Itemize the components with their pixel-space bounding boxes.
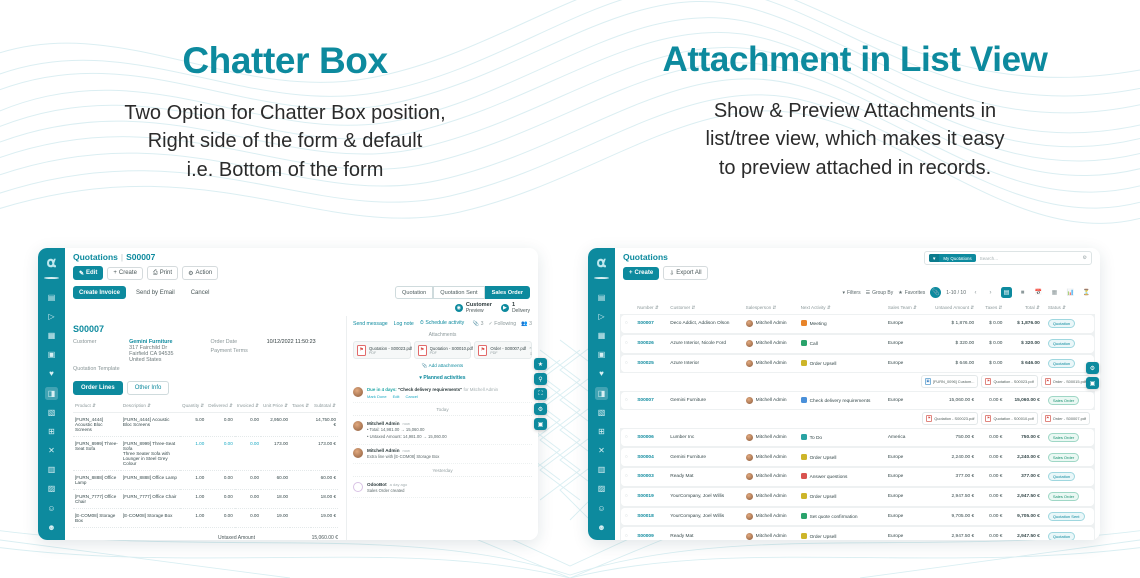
- activity-type-icon: [801, 473, 807, 479]
- follow-button[interactable]: ✓ Following: [488, 321, 516, 327]
- col-header-quantity[interactable]: Quantity ⇵: [180, 400, 206, 413]
- col-header-salesperson[interactable]: Salesperson ⇵: [742, 303, 797, 313]
- megaphone-icon[interactable]: ▷: [595, 310, 608, 323]
- quotations-list-table: Number ⇵Customer ⇵Salesperson ⇵Next Acti…: [621, 301, 1094, 540]
- inbox-icon[interactable]: ▧: [595, 406, 608, 419]
- cell-salesperson: Mitchell Admin: [742, 355, 797, 373]
- shuffle-icon[interactable]: ✕: [45, 445, 58, 458]
- col-header-taxes[interactable]: Taxes ⇵: [978, 303, 1006, 313]
- row-select-checkbox[interactable]: ○: [621, 488, 633, 506]
- attachment-chip-name: Quotation - S00023.pdf: [934, 416, 974, 421]
- cell-product: [FURN_8999] Three-Seat Sofa: [73, 437, 121, 471]
- view-switch-kanban[interactable]: ■: [1017, 287, 1028, 298]
- megaphone-icon[interactable]: ▷: [45, 310, 58, 323]
- cell-number[interactable]: S00004: [633, 448, 666, 466]
- grid-icon[interactable]: ⊞: [595, 425, 608, 438]
- app-sidebar-right: ⍺ ▤▷▦▣♥◨▧⊞✕▥▨☺☻⚙⊕: [588, 248, 615, 540]
- create-button[interactable]: +Create: [107, 267, 143, 280]
- chatter-message: OdooBota day agoSales Order created: [353, 479, 532, 498]
- view-switch-list[interactable]: ▤: [1001, 287, 1012, 298]
- cell-sales-team: Europe: [884, 488, 926, 506]
- odoo-logo-icon: ⍺: [592, 253, 611, 271]
- planned-activities-title[interactable]: ▾ Planned activities: [353, 375, 532, 381]
- breadcrumb-separator: |: [121, 252, 123, 262]
- save-icon[interactable]: ▣: [1086, 377, 1099, 389]
- heading-title-attachment-list-view: Attachment in List View: [570, 42, 1140, 79]
- cell-sales-team: Europe: [884, 468, 926, 486]
- totals-block: Untaxed Amount15,060.00 €Taxes0.00 €Tota…: [218, 533, 338, 540]
- plus-icon: +: [113, 270, 117, 276]
- heading-subtitle-attachment-list-view: Show & Preview Attachments in list/tree …: [570, 97, 1140, 182]
- cell-salesperson: Mitchell Admin: [742, 429, 797, 447]
- day-separator-yesterday: Yesterday: [353, 468, 532, 477]
- table-row[interactable]: ○S00025Azure InteriorMitchell AdminOrder…: [621, 355, 1094, 373]
- col-header-unit-price[interactable]: Unit Price ⇵: [261, 400, 290, 413]
- add-attachments-button[interactable]: 📎 Add attachments: [353, 363, 532, 369]
- settings-icon[interactable]: ⚙: [1086, 362, 1099, 374]
- tab-order-lines[interactable]: Order Lines: [73, 381, 123, 395]
- cell-invoiced: 0.00: [235, 437, 261, 471]
- attachment-name: Quotation - S00010.pdf: [430, 346, 473, 351]
- col-header-delivered[interactable]: Delivered ⇵: [206, 400, 235, 413]
- star-icon[interactable]: ★: [534, 358, 547, 370]
- order-line-row[interactable]: [FURN_8888] Office Lamp[FURN_8888] Offic…: [73, 471, 338, 490]
- status-badge: Sales Order: [1048, 492, 1079, 501]
- attachment-chip-name: Order - S00015.pdf: [1053, 379, 1086, 384]
- salesperson-name: Mitchell Admin: [756, 361, 787, 366]
- col-header-description[interactable]: Description ⇵: [121, 400, 180, 413]
- col-header-next-activity[interactable]: Next Activity ⇵: [797, 303, 884, 313]
- smart-button-label: Preview: [466, 308, 484, 314]
- search-facet-my-quotations[interactable]: ▼ My Quotations: [929, 254, 976, 262]
- cell-taxes: [290, 509, 311, 528]
- activity-buttons: Mark Done Edit Cancel: [367, 394, 498, 399]
- inbox-icon[interactable]: ▧: [45, 406, 58, 419]
- total-untaxed-amount: Untaxed Amount15,060.00 €: [218, 533, 338, 540]
- avatar: [746, 533, 753, 540]
- cell-number[interactable]: S00006: [633, 429, 666, 447]
- cell-next-activity: Set quote confirmation: [797, 508, 884, 526]
- col-header-invoiced[interactable]: Invoiced ⇵: [235, 400, 261, 413]
- filters-dropdown[interactable]: ▾ Filters: [842, 290, 860, 296]
- print-button[interactable]: ⎙Print: [147, 266, 178, 280]
- book-icon[interactable]: ▥: [595, 464, 608, 477]
- cell-salesperson: Mitchell Admin: [742, 468, 797, 486]
- activity-assignee: for Mitchell Admin: [463, 387, 498, 392]
- users-icon[interactable]: ☺: [45, 502, 58, 515]
- cell-delivered: 0.00: [206, 471, 235, 490]
- status-bar: QuotationQuotation SentSales Order: [395, 286, 530, 299]
- col-header-subtotal[interactable]: Subtotal ⇵: [311, 400, 338, 413]
- attachment-chip[interactable]: ⚑Order - S00015.pdf: [1041, 375, 1090, 387]
- activity-type-icon: [801, 360, 807, 366]
- attachment-card[interactable]: ⚑Order - S00007.pdfPDF×⇩: [474, 341, 532, 359]
- activity-cancel-button[interactable]: Cancel: [405, 394, 417, 399]
- cell-quantity: 1.00: [180, 509, 206, 528]
- order-line-row[interactable]: [FURN_7777] Office Chair[FURN_7777] Offi…: [73, 490, 338, 509]
- view-switch-calendar[interactable]: 📅: [1033, 287, 1044, 298]
- chatter-action-row: Send message Log note ⏱ Schedule activit…: [353, 320, 532, 327]
- smart-button-text: CustomerPreview: [466, 302, 492, 314]
- cell-number[interactable]: S00007: [633, 392, 666, 410]
- attachment-card[interactable]: ⚑Quotation - S00023.pdfPDF×⇩: [353, 341, 411, 359]
- attachment-type: PDF: [490, 351, 526, 355]
- row-select-checkbox[interactable]: ○: [621, 468, 633, 486]
- cell-taxes: $ 0.00: [978, 315, 1006, 333]
- cell-next-activity: Order Upsell: [797, 355, 884, 373]
- book-icon[interactable]: ▥: [45, 464, 58, 477]
- cell-unit-price: 19.00: [261, 509, 290, 528]
- tab-other-info[interactable]: Other Info: [127, 381, 170, 395]
- create-invoice-button[interactable]: Create Invoice: [73, 286, 126, 299]
- cell-number[interactable]: S00003: [633, 468, 666, 486]
- row-select-checkbox[interactable]: ○: [621, 392, 633, 410]
- table-row[interactable]: ○S00009Ready MatMitchell AdminOrder Upse…: [621, 527, 1094, 540]
- search-input[interactable]: Search...: [980, 256, 998, 261]
- odoo-logo-icon: ⍺: [42, 253, 61, 271]
- avatar: [746, 493, 753, 500]
- salesperson-name: Mitchell Admin: [756, 321, 787, 326]
- col-header-status[interactable]: Status ⇵: [1044, 303, 1094, 313]
- table-row[interactable]: ○S00003Ready MatMitchell AdminAnswer que…: [621, 468, 1094, 486]
- col-header-total[interactable]: Total ⇵: [1006, 303, 1043, 313]
- cell-product: [FURN_4444] Acoustic Bloc Screens: [73, 413, 121, 437]
- heading-block-chatter-box: Chatter Box Two Option for Chatter Box p…: [0, 0, 570, 230]
- cell-status: Sales Order: [1044, 392, 1094, 410]
- cell-taxes: 0.00 €: [978, 448, 1006, 466]
- gear-icon[interactable]: ⚙: [1083, 255, 1087, 261]
- heading-block-attachment-list-view: Attachment in List View Show & Preview A…: [570, 0, 1140, 230]
- field-payment-terms: Payment Terms: [211, 348, 339, 354]
- cell-invoiced: 0.00: [235, 509, 261, 528]
- cell-taxes: [290, 471, 311, 490]
- cancel-button[interactable]: Cancel: [185, 286, 216, 299]
- briefcase-icon[interactable]: ▤: [595, 291, 608, 304]
- field-value[interactable]: Gemini Furniture317 Fairchild DrFairfiel…: [129, 339, 173, 363]
- save-icon[interactable]: ▣: [534, 418, 547, 430]
- box-icon[interactable]: ▨: [595, 483, 608, 496]
- table-row[interactable]: ○S00019YourCompany, Joel WillisMitchell …: [621, 488, 1094, 506]
- list-body: Quotations ▼ My Quotations Search... ⚙ +…: [615, 248, 1100, 540]
- breadcrumb-root[interactable]: Quotations: [623, 252, 668, 262]
- cell-number[interactable]: S00009: [633, 527, 666, 540]
- download-icon[interactable]: ⇩: [529, 351, 532, 356]
- chatter-send-message-button[interactable]: Send message: [353, 321, 388, 327]
- cell-status: Quotation: [1044, 527, 1094, 540]
- salesperson-name: Mitchell Admin: [756, 474, 787, 479]
- status-quotation-sent[interactable]: Quotation Sent: [433, 286, 484, 299]
- cell-customer: YourCompany, Joel Willis: [666, 508, 741, 526]
- attachment-type: PDF: [369, 351, 412, 355]
- heart-icon[interactable]: ♥: [45, 368, 58, 381]
- row-select-checkbox[interactable]: ○: [621, 429, 633, 447]
- action-button[interactable]: ⚙Action: [182, 266, 218, 280]
- filter-icon: ▾: [842, 290, 845, 296]
- table-row[interactable]: ○S00007Deco Addict, Addison OlsonMitchel…: [621, 315, 1094, 333]
- col-header-product[interactable]: Product ⇵: [73, 400, 121, 413]
- cell-sales-team: Europe: [884, 315, 926, 333]
- breadcrumb-record: S00007: [126, 252, 155, 262]
- row-select-checkbox[interactable]: ○: [621, 315, 633, 333]
- cell-next-activity: To Do: [797, 429, 884, 447]
- message-body: OdooBota day agoSales Order created: [367, 482, 407, 494]
- cell-salesperson: Mitchell Admin: [742, 508, 797, 526]
- pager: 1-10 / 10 ‹ ›: [946, 287, 996, 298]
- close-icon[interactable]: ×: [529, 345, 532, 350]
- order-line-row[interactable]: [FURN_4444] Acoustic Bloc Screens[FURN_4…: [73, 413, 338, 437]
- cell-status: Sales Order: [1044, 448, 1094, 466]
- app-sidebar-left: ⍺ ▤▷▦▣♥◨▧⊞✕▥▨☺☻⚙⊕: [38, 248, 65, 540]
- activity-type-icon: [801, 397, 807, 403]
- cell-status: Sales Order: [1044, 429, 1094, 447]
- cell-number[interactable]: S00025: [633, 355, 666, 373]
- message-list-yesterday: OdooBota day agoSales Order created: [353, 479, 532, 498]
- col-header-customer[interactable]: Customer ⇵: [666, 303, 741, 313]
- document-number: S00007: [73, 324, 338, 334]
- activity-edit-button[interactable]: Edit: [393, 394, 400, 399]
- attachment-chip[interactable]: ⚑Quotation - S00023.pdf: [981, 375, 1037, 387]
- attachment-name: Quotation - S00023.pdf: [369, 346, 412, 351]
- cell-number[interactable]: S00007: [633, 315, 666, 333]
- calendar-icon[interactable]: ▦: [595, 329, 608, 342]
- wallet-icon[interactable]: ▣: [595, 349, 608, 362]
- message-text: • Untaxed Amount: 14,981.00 → 15,060.00: [367, 434, 447, 440]
- pdf-file-icon: ⚑: [926, 415, 932, 422]
- group-by-dropdown[interactable]: ☰ Group By: [866, 290, 894, 296]
- users-icon[interactable]: ☺: [595, 502, 608, 515]
- cell-description: [FURN_8999] Three-Seat SofaThree Seater …: [121, 437, 180, 471]
- attachment-name: Order - S00007.pdf: [490, 346, 526, 351]
- followers-count[interactable]: 👥 3: [521, 321, 532, 327]
- calendar-icon[interactable]: ▦: [45, 329, 58, 342]
- attachment-info: Order - S00007.pdfPDF: [490, 346, 526, 355]
- message-text: Extra line with [E-COM08] Storage Box: [367, 454, 439, 460]
- avatar: [353, 482, 363, 492]
- row-select-checkbox[interactable]: ○: [621, 508, 633, 526]
- cell-total: $ 646.00: [1006, 355, 1043, 373]
- avatar: [353, 387, 363, 397]
- pdf-file-icon: ⚑: [418, 345, 427, 356]
- chatter-panel-right: Send message Log note ⏱ Schedule activit…: [346, 316, 538, 540]
- cell-customer: Azure Interior, Nicole Ford: [666, 335, 741, 353]
- cell-description: [FURN_8888] Office Lamp: [121, 471, 180, 490]
- message-author: Mitchell Adminnow: [367, 448, 439, 453]
- smart-button-preview[interactable]: ◉CustomerPreview: [455, 302, 492, 314]
- search-bar[interactable]: ▼ My Quotations Search... ⚙: [924, 251, 1092, 265]
- status-badge: Sales Order: [1048, 433, 1079, 442]
- person-icon[interactable]: ☻: [45, 521, 58, 534]
- shuffle-icon[interactable]: ✕: [595, 445, 608, 458]
- row-select-checkbox[interactable]: ○: [621, 335, 633, 353]
- cell-customer: Ready Mat: [666, 468, 741, 486]
- attachment-chip-name: [FURN_0096] Custom...: [933, 379, 975, 384]
- cell-subtotal: 18.00 €: [311, 490, 338, 509]
- table-row[interactable]: ○S00018YourCompany, Joel WillisMitchell …: [621, 508, 1094, 526]
- status-badge: Quotation: [1048, 319, 1075, 328]
- activity-label: Check delivery requirements: [810, 399, 871, 404]
- search-icon[interactable]: ⚲: [534, 373, 547, 385]
- attachment-chip[interactable]: ⚑Quotation - S00010.pdf: [981, 412, 1037, 424]
- table-row[interactable]: ○S00004Gemini FurnitureMitchell AdminOrd…: [621, 448, 1094, 466]
- status-badge: Quotation: [1048, 359, 1075, 368]
- breadcrumb: Quotations | S00007: [65, 248, 538, 265]
- field-order-date: Order Date10/12/2022 11:50:23: [211, 339, 339, 345]
- chart-icon[interactable]: ◨: [45, 387, 58, 400]
- table-row[interactable]: ○S00006Lumber IncMitchell AdminTo DoAmer…: [621, 429, 1094, 447]
- attachment-count: 📎 3: [473, 321, 484, 327]
- search-facet-label: My Quotations: [939, 254, 975, 262]
- total-label: Untaxed Amount: [218, 535, 255, 540]
- salesperson-name: Mitchell Admin: [756, 514, 787, 519]
- table-row[interactable]: ○S00007Gemini FurnitureMitchell AdminChe…: [621, 392, 1094, 410]
- message-list-today: Mitchell Adminnow• Total: 14,981.00 → 15…: [353, 418, 532, 464]
- attachment-card[interactable]: ⚑Quotation - S00010.pdfPDF×⇩: [414, 341, 472, 359]
- workflow-buttons: Create InvoiceSend by EmailCancel: [73, 286, 215, 299]
- activity-mark-done-button[interactable]: Mark Done: [367, 394, 387, 399]
- pager-previous-button[interactable]: ‹: [970, 287, 981, 298]
- table-row[interactable]: ○S00026Azure Interior, Nicole FordMitche…: [621, 335, 1094, 353]
- cell-customer: YourCompany, Joel Willis: [666, 488, 741, 506]
- col-header-number[interactable]: Number ⇵: [633, 303, 666, 313]
- cell-delivered: 0.00: [206, 509, 235, 528]
- cell-taxes: 0.00 €: [978, 392, 1006, 410]
- field-value[interactable]: 10/12/2022 11:50:23: [267, 339, 316, 345]
- cell-customer: Azure Interior: [666, 355, 741, 373]
- heart-icon[interactable]: ♥: [595, 368, 608, 381]
- export-all-button[interactable]: ⇩Export All: [663, 266, 707, 280]
- attachment-chip[interactable]: ⚑Quotation - S00023.pdf: [922, 412, 978, 424]
- activity-label: Order Upsell: [810, 456, 837, 461]
- workflow-bar: Create InvoiceSend by EmailCancel Quotat…: [65, 284, 538, 299]
- order-line-row[interactable]: [E-COM08] Storage Box[E-COM08] Storage B…: [73, 509, 338, 528]
- button-label: Create: [119, 270, 137, 276]
- cell-total: 750.00 €: [1006, 429, 1043, 447]
- user-avatar[interactable]: [44, 277, 59, 279]
- avatar: [353, 448, 363, 458]
- cell-untaxed-amount: 377.00 €: [925, 468, 978, 486]
- wallet-icon[interactable]: ▣: [45, 349, 58, 362]
- button-label: Print: [160, 270, 172, 276]
- star-icon: ★: [898, 290, 902, 296]
- send-by-email-button[interactable]: Send by Email: [130, 286, 181, 299]
- cell-total: 377.00 €: [1006, 468, 1043, 486]
- status-quotation[interactable]: Quotation: [395, 286, 433, 299]
- notebook-tabs: Order LinesOther Info: [73, 381, 338, 395]
- activity-type-icon: [801, 320, 807, 326]
- col-header-taxes[interactable]: Taxes ⇵: [290, 400, 311, 413]
- order-line-row[interactable]: [FURN_8999] Three-Seat Sofa[FURN_8999] T…: [73, 437, 338, 471]
- edit-button[interactable]: ✎Edit: [73, 266, 103, 280]
- expand-icon[interactable]: ⛶: [534, 388, 547, 400]
- cell-sales-team: Europe: [884, 448, 926, 466]
- address-line: United States: [129, 357, 173, 363]
- attachment-chip[interactable]: ⚑Order - S00007.pdf: [1041, 412, 1090, 424]
- eye-icon: ◉: [455, 304, 463, 312]
- cell-number[interactable]: S00018: [633, 508, 666, 526]
- pager-next-button[interactable]: ›: [985, 287, 996, 298]
- promo-banner: Chatter Box Two Option for Chatter Box p…: [0, 0, 1140, 578]
- cell-total: 2,947.50 €: [1006, 527, 1043, 540]
- heading-subtitle-chatter-box: Two Option for Chatter Box position, Rig…: [0, 99, 570, 184]
- cell-sales-team: America: [884, 429, 926, 447]
- briefcase-icon[interactable]: ▤: [45, 291, 58, 304]
- grid-icon[interactable]: ⊞: [45, 425, 58, 438]
- cell-sales-team: Europe: [884, 508, 926, 526]
- screenshot-list-view: ⍺ ▤▷▦▣♥◨▧⊞✕▥▨☺☻⚙⊕ Quotations ▼ My Quotat…: [588, 248, 1100, 540]
- cell-unit-price: 2,950.00: [261, 413, 290, 437]
- floating-rail-left: ★⚲⛶⚙▣: [534, 358, 547, 430]
- row-select-checkbox[interactable]: ○: [621, 448, 633, 466]
- message-text: • Total: 14,981.00 → 15,060.00: [367, 427, 447, 433]
- avatar: [746, 454, 753, 461]
- cell-status: Quotation: [1044, 315, 1094, 333]
- cell-delivered: 0.00: [206, 437, 235, 471]
- cell-status: Quotation Sent: [1044, 508, 1094, 526]
- view-toolbar: ▾ Filters ☰ Group By ★ Favorites 📎 1-10 …: [615, 284, 1100, 301]
- row-select-checkbox[interactable]: ○: [621, 355, 633, 373]
- smart-button-label: Delivery: [512, 308, 530, 314]
- cell-number[interactable]: S00026: [633, 335, 666, 353]
- headings-row: Chatter Box Two Option for Chatter Box p…: [0, 0, 1140, 230]
- message-body: Mitchell Adminnow• Total: 14,981.00 → 15…: [367, 421, 447, 441]
- cell-taxes: 0.00 €: [978, 468, 1006, 486]
- activity-type-icon: [801, 454, 807, 460]
- order-lines-table: Product ⇵Description ⇵Quantity ⇵Delivere…: [73, 400, 338, 528]
- box-icon[interactable]: ▨: [45, 483, 58, 496]
- breadcrumb-root[interactable]: Quotations: [73, 252, 118, 262]
- gear-icon: ⚙: [188, 270, 193, 277]
- person-icon[interactable]: ☻: [595, 521, 608, 534]
- cell-taxes: [290, 437, 311, 471]
- field-label: Payment Terms: [211, 348, 267, 354]
- settings-icon[interactable]: ⚙: [534, 403, 547, 415]
- chatter-message: Mitchell AdminnowExtra line with [E-COM0…: [353, 445, 532, 464]
- attachment-chips: ⚑Quotation - S00023.pdf⚑Quotation - S000…: [621, 411, 1094, 426]
- status-badge: Quotation: [1048, 472, 1075, 481]
- view-switch-graph[interactable]: 📊: [1065, 287, 1076, 298]
- cell-taxes: [290, 490, 311, 509]
- smart-buttons: ◉CustomerPreview▶1Delivery: [65, 299, 538, 316]
- create-button[interactable]: +Create: [623, 267, 659, 280]
- view-switch-activity[interactable]: ⏳: [1081, 287, 1092, 298]
- order-lines-body: [FURN_4444] Acoustic Bloc Screens[FURN_4…: [73, 413, 338, 528]
- button-label: Create: [635, 270, 654, 276]
- favorites-dropdown[interactable]: ★ Favorites: [898, 290, 925, 296]
- view-switch-pivot[interactable]: ▦: [1049, 287, 1060, 298]
- chatter-log-note-button[interactable]: Log note: [394, 321, 414, 327]
- status-sales-order[interactable]: Sales Order: [485, 286, 530, 299]
- user-avatar[interactable]: [594, 277, 609, 279]
- attachment-chip-row: ▣[FURN_0096] Custom...⚑Quotation - S0002…: [621, 374, 1094, 389]
- salesperson-name: Mitchell Admin: [756, 398, 787, 403]
- cell-taxes: $ 0.00: [978, 355, 1006, 373]
- col-header-sales-team[interactable]: Sales Team ⇵: [884, 303, 926, 313]
- col-header-untaxed-amount[interactable]: Untaxed Amount ⇵: [925, 303, 978, 313]
- cell-number[interactable]: S00019: [633, 488, 666, 506]
- attachment-toggle-button[interactable]: 📎: [930, 287, 941, 298]
- attachment-chip[interactable]: ▣[FURN_0096] Custom...: [921, 375, 979, 387]
- smart-button-delivery[interactable]: ▶1Delivery: [501, 302, 530, 314]
- attachment-chip-name: Quotation - S00023.pdf: [993, 379, 1033, 384]
- row-select-checkbox[interactable]: ○: [621, 527, 633, 540]
- avatar: [353, 421, 363, 431]
- attachment-chip-name: Quotation - S00010.pdf: [993, 416, 1033, 421]
- total-value: 15,060.00 €: [312, 535, 338, 540]
- cell-description: [E-COM08] Storage Box: [121, 509, 180, 528]
- chatter-schedule-activity-button[interactable]: ⏱ Schedule activity: [420, 320, 464, 327]
- cell-subtotal: 173.00 €: [311, 437, 338, 471]
- chart-icon[interactable]: ◨: [595, 387, 608, 400]
